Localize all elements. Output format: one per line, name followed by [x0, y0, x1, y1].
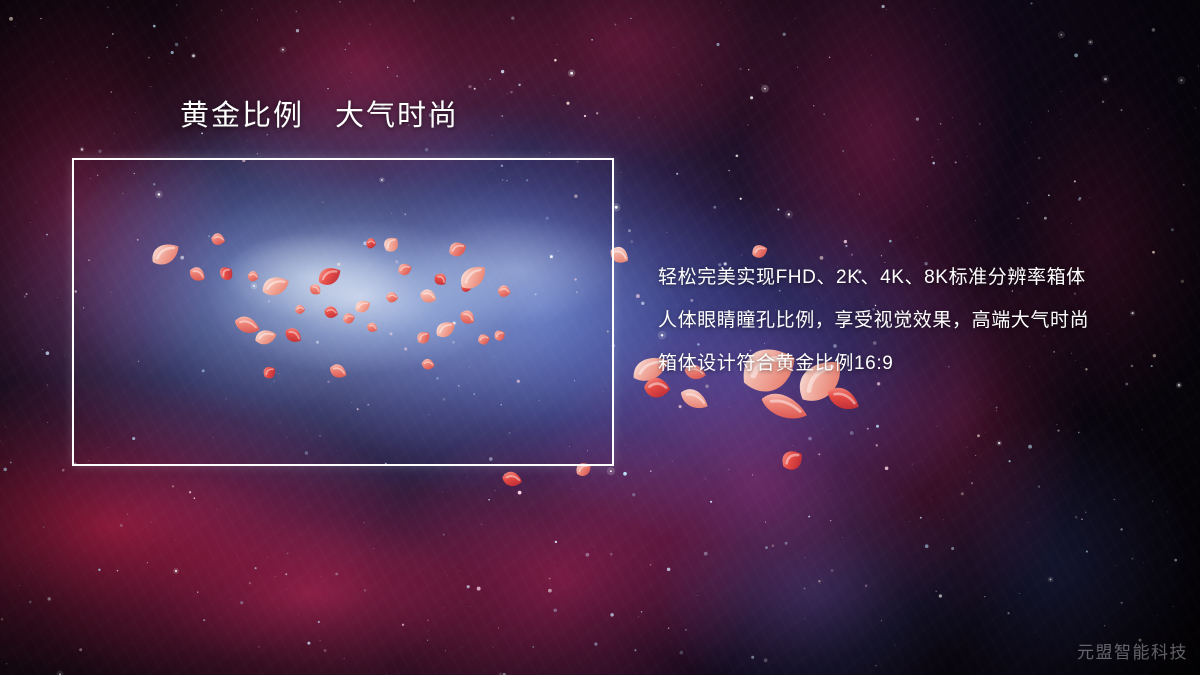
page-title: 黄金比例 大气时尚 [180, 100, 459, 133]
petal [758, 388, 810, 425]
body-line-3: 箱体设计符合黄金比例16:9 [658, 342, 1178, 385]
petal [677, 385, 711, 414]
petal [501, 470, 524, 489]
display-panel-frame [72, 158, 614, 466]
petal [778, 446, 806, 473]
petal [824, 383, 863, 415]
body-text-block: 轻松完美实现FHD、2K、4K、8K标准分辨率箱体 人体眼睛瞳孔比例，享受视觉效… [658, 256, 1178, 385]
watermark: 元盟智能科技 [1077, 638, 1188, 663]
presentation-slide: 黄金比例 大气时尚 轻松完美实现FHD、2K、4K、8K标准分辨率箱体 人体眼睛… [0, 0, 1200, 675]
body-line-2: 人体眼睛瞳孔比例，享受视觉效果，高端大气时尚 [658, 299, 1178, 342]
body-line-1: 轻松完美实现FHD、2K、4K、8K标准分辨率箱体 [658, 256, 1178, 299]
